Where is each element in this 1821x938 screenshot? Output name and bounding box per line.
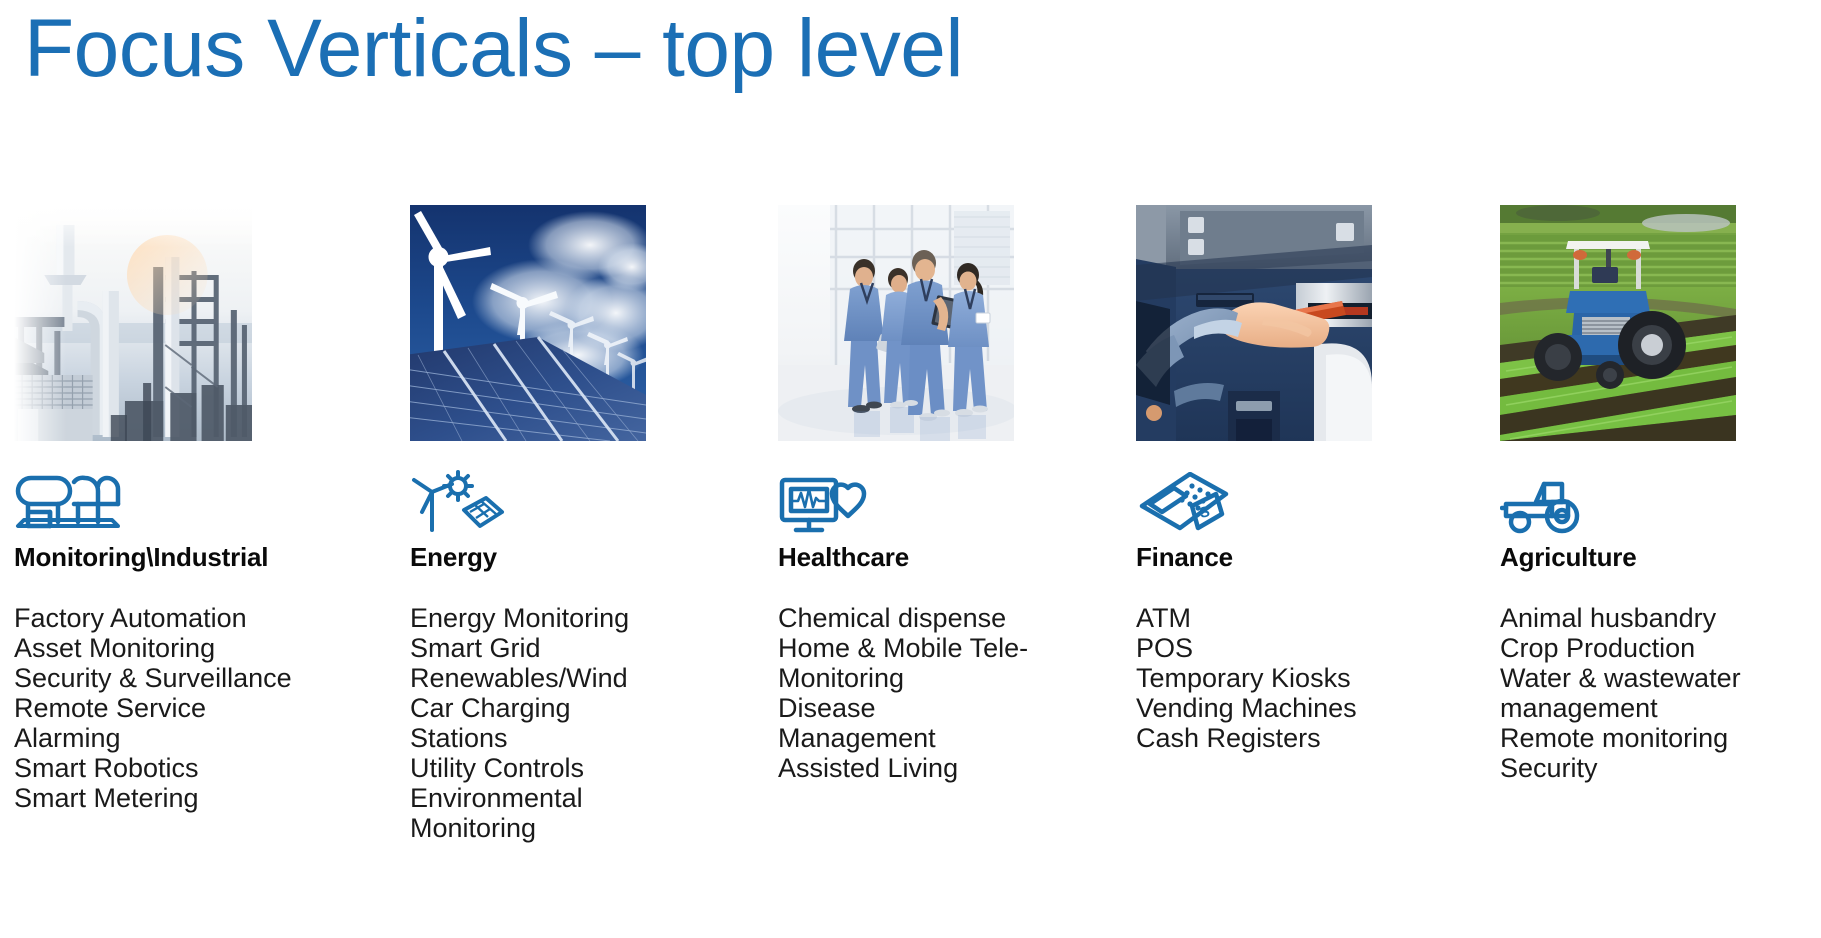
pos-terminal-icon: S <box>1136 460 1466 534</box>
list-item: POS <box>1136 633 1398 663</box>
list-item: Home & Mobile Tele-Monitoring <box>778 633 1030 693</box>
list-item: ATM <box>1136 603 1398 633</box>
list-item: Crop Production <box>1500 633 1750 663</box>
vertical-column-energy: Energy Energy Monitoring Smart Grid Rene… <box>410 205 740 843</box>
column-heading: Agriculture <box>1500 542 1821 573</box>
column-item-list: Factory Automation Asset Monitoring Secu… <box>14 603 334 813</box>
vertical-column-healthcare: Healthcare Chemical dispense Home & Mobi… <box>778 205 1108 783</box>
medical-staff-corridor-photo <box>778 205 1014 441</box>
list-item: Remote Service <box>14 693 334 723</box>
vertical-column-monitoring-industrial: Monitoring\Industrial Factory Automation… <box>14 205 344 813</box>
column-heading: Energy <box>410 542 740 573</box>
patient-monitor-heart-icon <box>778 460 1108 534</box>
list-item: Vending Machines <box>1136 693 1398 723</box>
list-item: Energy Monitoring <box>410 603 660 633</box>
tractor-icon <box>1500 460 1821 534</box>
list-item: Smart Robotics <box>14 753 334 783</box>
list-item: Renewables/Wind <box>410 663 660 693</box>
wind-turbines-solar-panels-photo <box>410 205 646 441</box>
column-heading: Monitoring\Industrial <box>14 542 344 573</box>
list-item: Alarming <box>14 723 334 753</box>
tractor-crop-field-photo <box>1500 205 1736 441</box>
list-item: Water & wastewater management <box>1500 663 1750 723</box>
storage-tanks-icon <box>14 460 344 534</box>
list-item: Security & Surveillance <box>14 663 334 693</box>
list-item: Smart Metering <box>14 783 334 813</box>
list-item: Assisted Living <box>778 753 1030 783</box>
vertical-column-agriculture: Agriculture Animal husbandry Crop Produc… <box>1500 205 1821 783</box>
column-item-list: ATM POS Temporary Kiosks Vending Machine… <box>1136 603 1398 753</box>
list-item: Smart Grid <box>410 633 660 663</box>
list-item: Car Charging Stations <box>410 693 660 753</box>
atm-card-insert-photo <box>1136 205 1372 441</box>
list-item: Security <box>1500 753 1750 783</box>
list-item: Cash Registers <box>1136 723 1398 753</box>
list-item: Animal husbandry <box>1500 603 1750 633</box>
column-heading: Finance <box>1136 542 1466 573</box>
column-item-list: Chemical dispense Home & Mobile Tele-Mon… <box>778 603 1030 783</box>
industrial-refinery-photo <box>14 205 252 441</box>
vertical-column-finance: S Finance ATM POS Temporary Kiosks Vendi… <box>1136 205 1466 753</box>
column-heading: Healthcare <box>778 542 1108 573</box>
column-item-list: Energy Monitoring Smart Grid Renewables/… <box>410 603 660 843</box>
list-item: Utility Controls <box>410 753 660 783</box>
verticals-grid: Monitoring\Industrial Factory Automation… <box>0 205 1821 935</box>
list-item: Environmental Monitoring <box>410 783 660 843</box>
list-item: Chemical dispense <box>778 603 1030 633</box>
column-item-list: Animal husbandry Crop Production Water &… <box>1500 603 1750 783</box>
list-item: Temporary Kiosks <box>1136 663 1398 693</box>
wind-turbine-solar-icon <box>410 460 740 534</box>
page-title: Focus Verticals – top level <box>24 8 963 90</box>
list-item: Remote monitoring <box>1500 723 1750 753</box>
list-item: Asset Monitoring <box>14 633 334 663</box>
list-item: Factory Automation <box>14 603 334 633</box>
list-item: Disease Management <box>778 693 1030 753</box>
